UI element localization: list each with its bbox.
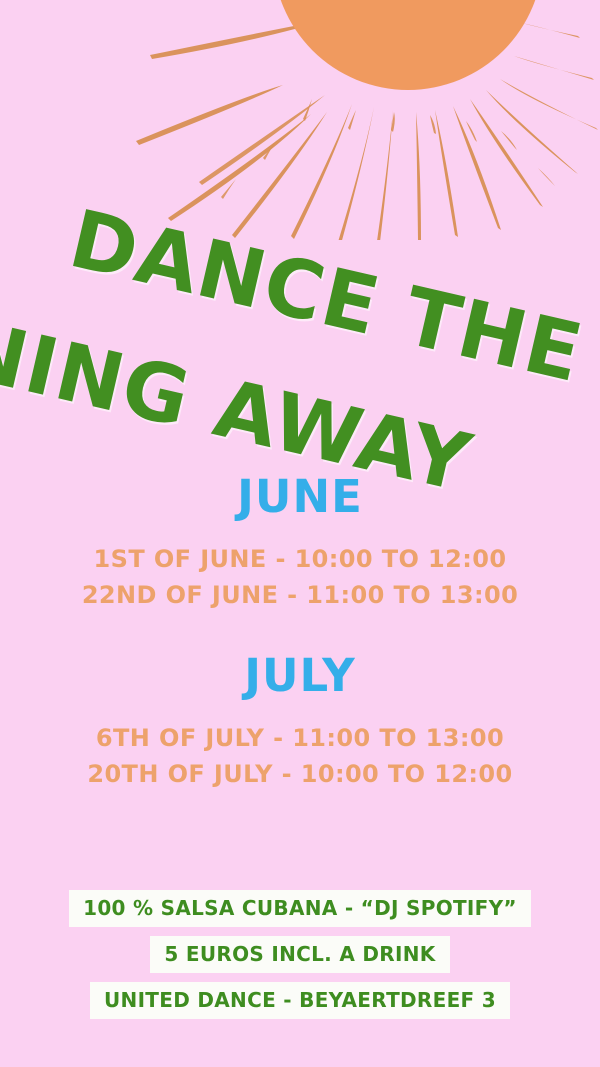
footer-banner-venue: UNITED DANCE - BEYAERTDREEF 3	[90, 982, 510, 1019]
footer-banner-price: 5 EUROS INCL. A DRINK	[150, 936, 449, 973]
sun-disc	[273, 0, 543, 90]
session-june-1: 1ST OF JUNE - 10:00 TO 12:00	[0, 541, 600, 577]
month-title-july: JULY	[0, 649, 600, 702]
schedule-section: JUNE 1ST OF JUNE - 10:00 TO 12:00 22ND O…	[0, 470, 600, 792]
session-july-2: 20TH OF JULY - 10:00 TO 12:00	[0, 756, 600, 792]
session-july-1: 6TH OF JULY - 11:00 TO 13:00	[0, 720, 600, 756]
poster-headline: DANCE THE MO RNING AWAY	[0, 182, 600, 432]
month-group-july: JULY 6TH OF JULY - 11:00 TO 13:00 20TH O…	[0, 649, 600, 792]
event-poster: DANCE THE MO RNING AWAY JUNE 1ST OF JUNE…	[0, 0, 600, 1067]
footer-banner-music: 100 % SALSA CUBANA - “DJ SPOTIFY”	[69, 890, 531, 927]
footer-details: 100 % SALSA CUBANA - “DJ SPOTIFY” 5 EURO…	[0, 890, 600, 1019]
month-title-june: JUNE	[0, 470, 600, 523]
month-group-june: JUNE 1ST OF JUNE - 10:00 TO 12:00 22ND O…	[0, 470, 600, 613]
session-june-2: 22ND OF JUNE - 11:00 TO 13:00	[0, 577, 600, 613]
